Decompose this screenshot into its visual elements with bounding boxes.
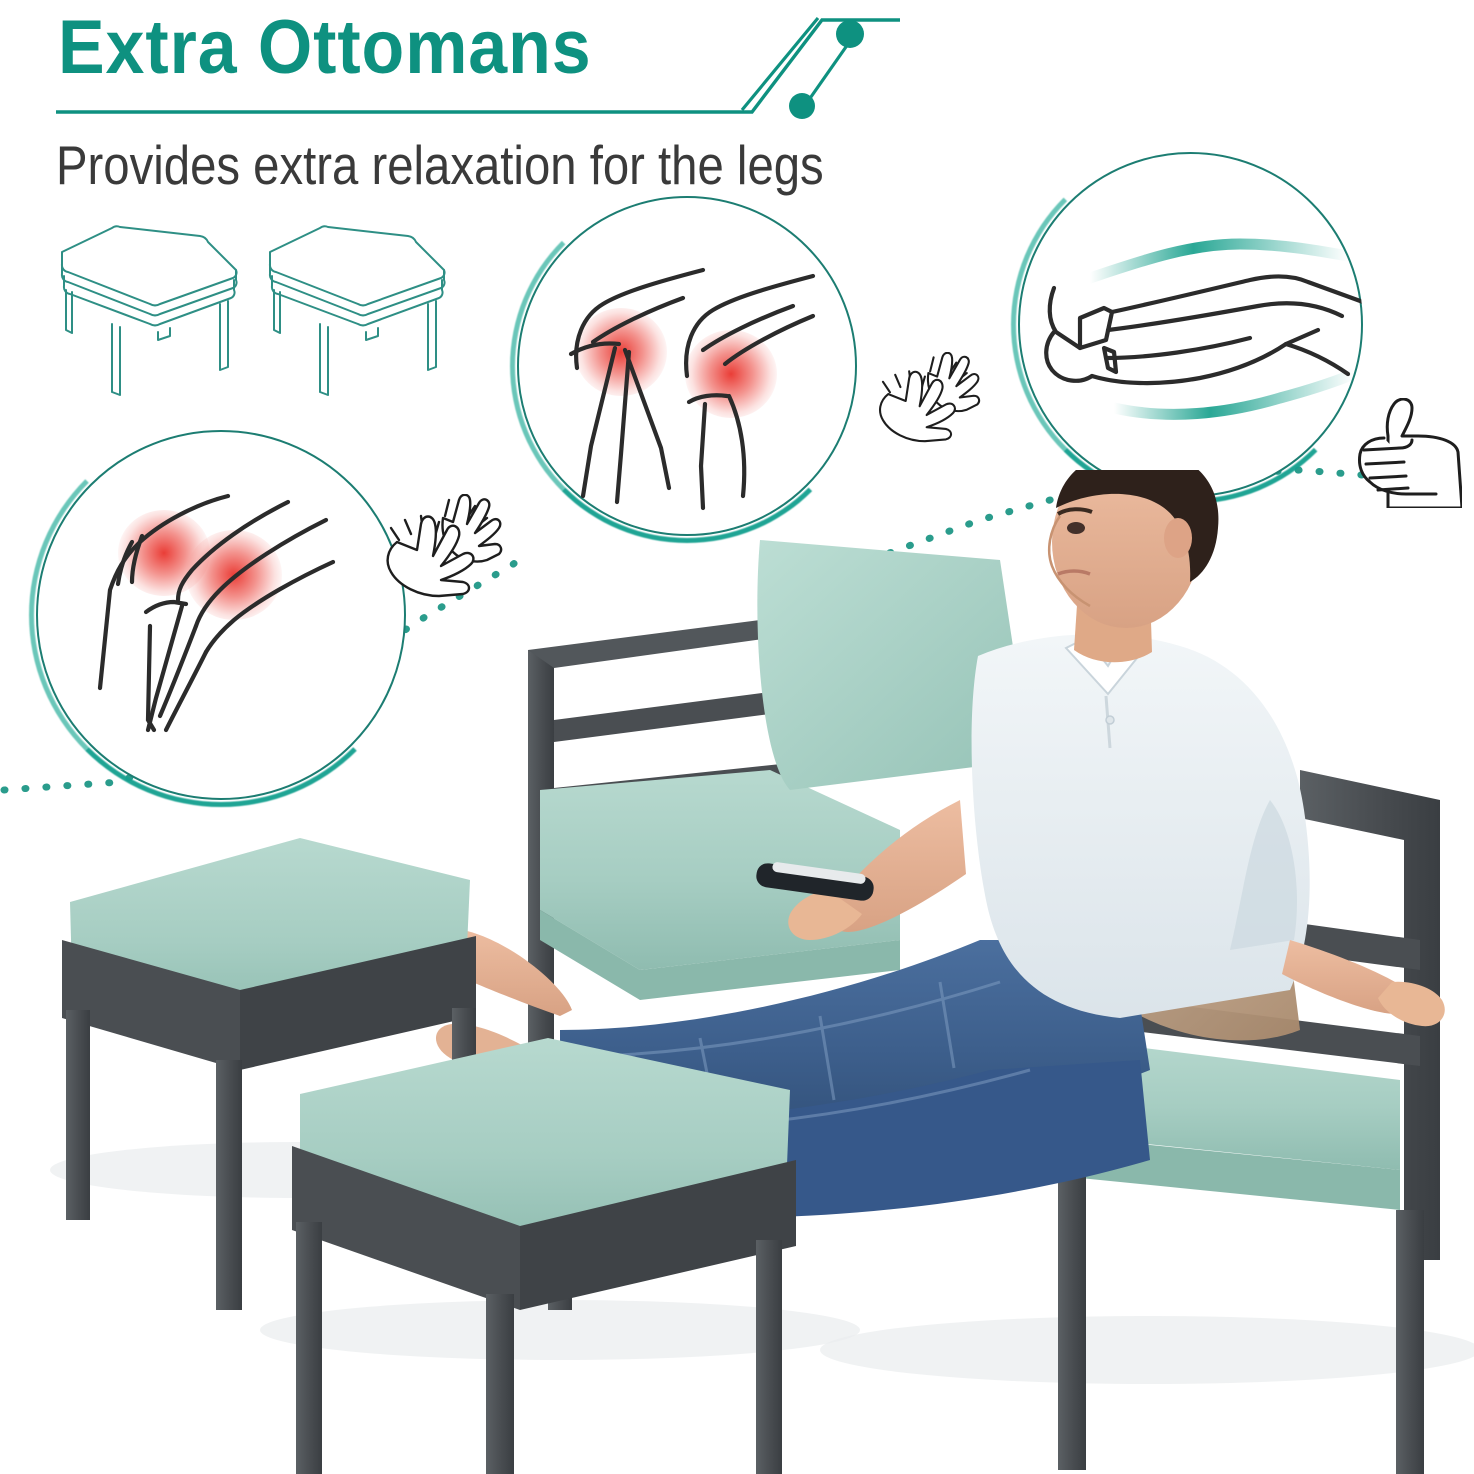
comfort-swoosh bbox=[1114, 374, 1354, 414]
open-hands-icon bbox=[876, 352, 986, 450]
extended-legs-line-art bbox=[1018, 152, 1363, 497]
infographic-canvas: Extra Ottomans Provides extra relaxation… bbox=[0, 0, 1474, 1474]
product-photo-scene bbox=[0, 470, 1474, 1474]
ottoman-front bbox=[292, 1038, 796, 1474]
comfort-swoosh bbox=[1090, 244, 1348, 278]
callout-relaxed-legs bbox=[1018, 152, 1363, 497]
